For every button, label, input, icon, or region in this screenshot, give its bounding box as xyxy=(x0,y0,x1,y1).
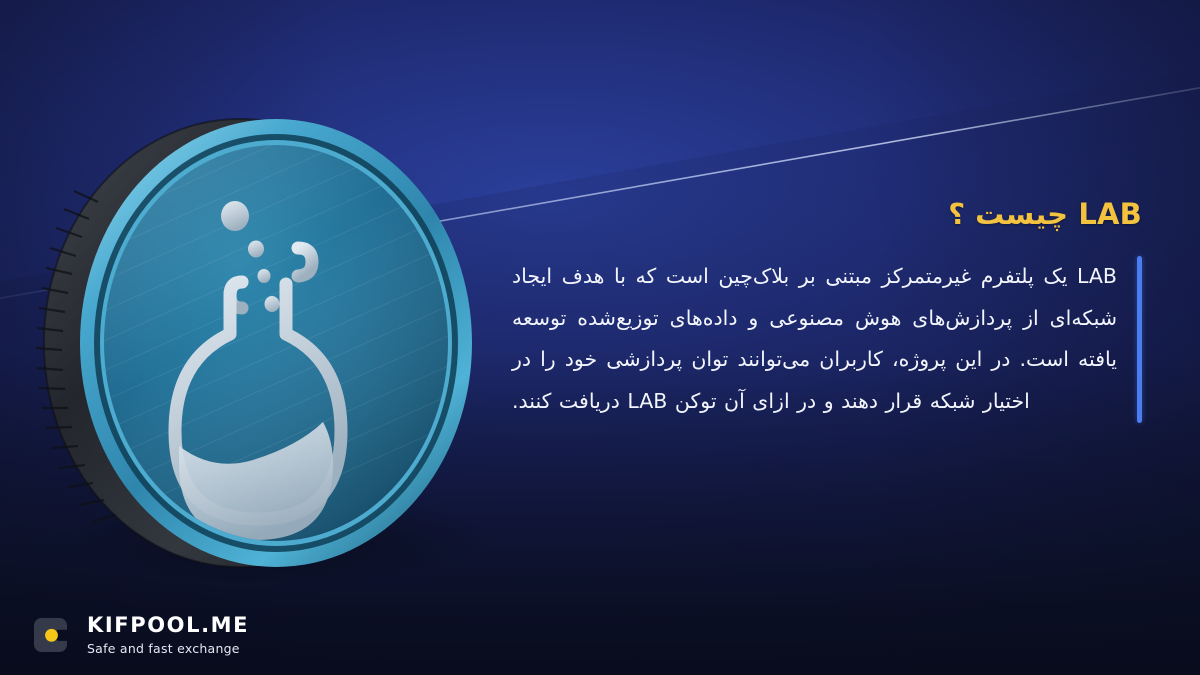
logo-name: KIFPOOL.ME xyxy=(87,614,249,638)
brand-logo[interactable]: KIFPOOL.ME Safe and fast exchange xyxy=(30,613,249,657)
text-column: LAB چیست ؟ LAB یک پلتفرم غیرمتمرکز مبتنی… xyxy=(512,196,1142,423)
body-paragraph: LAB یک پلتفرم غیرمتمرکز مبتنی بر بلاک‌چی… xyxy=(512,256,1117,422)
body-block: LAB یک پلتفرم غیرمتمرکز مبتنی بر بلاک‌چی… xyxy=(512,256,1142,422)
accent-bar xyxy=(1137,256,1142,422)
lab-coin-illustration xyxy=(28,108,498,578)
logo-text: KIFPOOL.ME Safe and fast exchange xyxy=(87,614,249,656)
page-title: LAB چیست ؟ xyxy=(512,196,1142,232)
logo-tagline: Safe and fast exchange xyxy=(87,641,240,656)
promo-banner: LAB چیست ؟ LAB یک پلتفرم غیرمتمرکز مبتنی… xyxy=(0,0,1200,675)
wallet-icon xyxy=(30,613,74,657)
